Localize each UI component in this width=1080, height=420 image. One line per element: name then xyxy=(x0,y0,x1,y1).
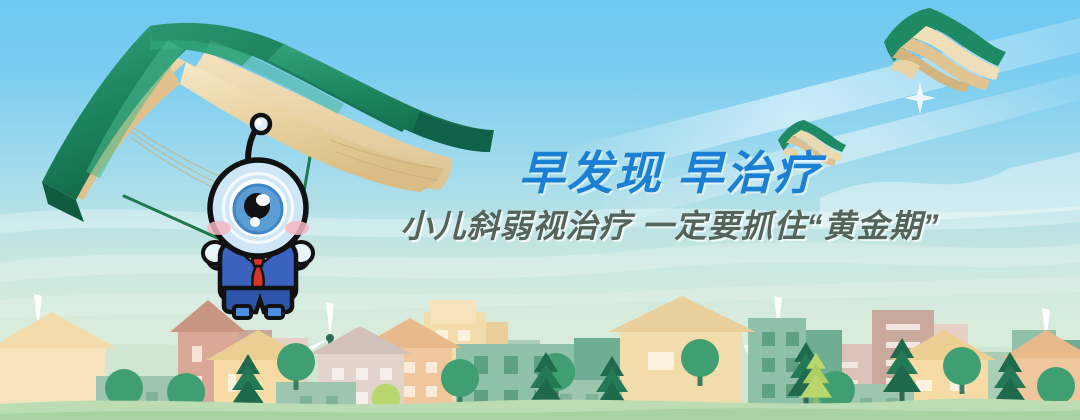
city-skyline xyxy=(0,0,1080,420)
foreground-ground xyxy=(0,398,1080,420)
eye-health-banner: 早发现 早治疗 小儿斜弱视治疗 一定要抓住“黄金期” xyxy=(0,0,1080,420)
